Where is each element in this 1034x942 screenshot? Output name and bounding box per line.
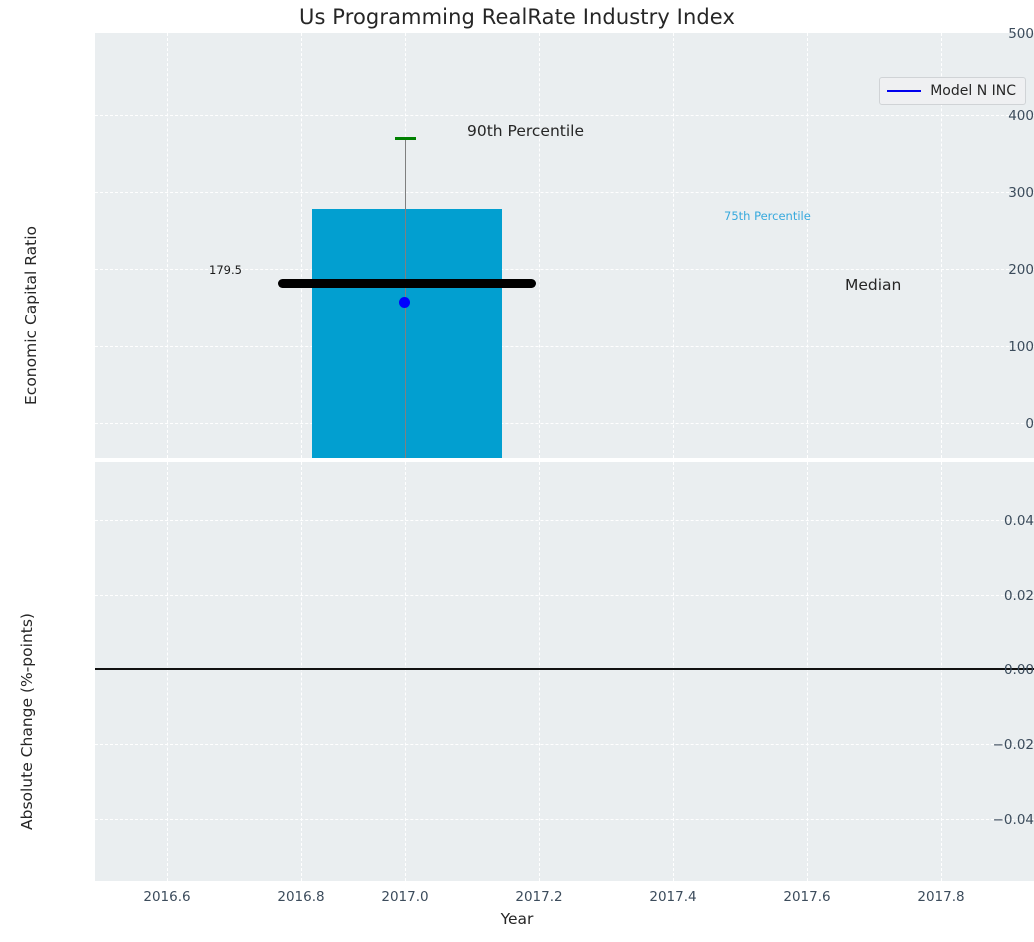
annotation-median: Median [845, 276, 901, 294]
gridline-v-bottom-2016_8 [301, 462, 302, 881]
gridline-h-m0_02 [95, 744, 1034, 745]
gridline-v-bottom-2017_2 [539, 462, 540, 881]
ytick-bottom-0_02: 0.02 [950, 588, 1034, 604]
bottom-panel-plot-area [95, 462, 1034, 881]
ytick-bottom-0_04: 0.04 [950, 513, 1034, 529]
legend-label-model: Model N INC [930, 83, 1016, 99]
gridline-h-0 [95, 423, 1034, 424]
gridline-h-0_04 [95, 520, 1034, 521]
gridline-v-2017_6 [807, 33, 808, 458]
xtick-2017_6: 2017.6 [747, 889, 867, 905]
percentile-bar [312, 209, 502, 458]
gridline-v-2016_8 [301, 33, 302, 458]
xtick-2017_8: 2017.8 [881, 889, 1001, 905]
gridline-h-300 [95, 192, 1034, 193]
gridline-v-bottom-2017_6 [807, 462, 808, 881]
annotation-75th-percentile: 75th Percentile [724, 209, 811, 223]
legend[interactable]: Model N INC [879, 77, 1026, 105]
gridline-v-2017_4 [673, 33, 674, 458]
median-line [278, 279, 536, 288]
gridline-h-400 [95, 115, 1034, 116]
annotation-90th-percentile: 90th Percentile [467, 122, 584, 140]
model-data-point[interactable] [399, 297, 410, 308]
chart-title: Us Programming RealRate Industry Index [0, 5, 1034, 29]
ytick-top-500: 500 [950, 26, 1034, 42]
ytick-top-300: 300 [950, 185, 1034, 201]
ytick-top-100: 100 [950, 339, 1034, 355]
xtick-2017_0: 2017.0 [345, 889, 465, 905]
chart-figure: Us Programming RealRate Industry Index 1… [0, 0, 1034, 942]
xtick-2017_2: 2017.2 [479, 889, 599, 905]
xtick-2017_4: 2017.4 [613, 889, 733, 905]
gridline-h-0_02 [95, 595, 1034, 596]
xtick-2016_6: 2016.6 [107, 889, 227, 905]
gridline-v-2017_2 [539, 33, 540, 458]
gridline-v-bottom-2017_8 [941, 462, 942, 881]
ytick-bottom-m0_02: −0.02 [950, 737, 1034, 753]
zero-reference-line [95, 668, 1034, 670]
xtick-2016_8: 2016.8 [241, 889, 361, 905]
annotation-median-value: 179.5 [209, 263, 242, 277]
ylabel-bottom-panel: Absolute Change (%-points) [18, 613, 36, 830]
gridline-h-m0_04 [95, 819, 1034, 820]
ytick-bottom-m0_04: −0.04 [950, 812, 1034, 828]
ytick-top-200: 200 [950, 262, 1034, 278]
top-panel-plot-area: 179.5 90th Percentile 75th Percentile Me… [95, 33, 1034, 458]
gridline-v-2016_6 [167, 33, 168, 458]
ylabel-top-panel: Economic Capital Ratio [22, 226, 40, 405]
ytick-top-400: 400 [950, 108, 1034, 124]
gridline-v-bottom-2017_0 [405, 462, 406, 881]
gridline-v-bottom-2016_6 [167, 462, 168, 881]
gridline-h-100 [95, 346, 1034, 347]
gridline-v-bottom-2017_4 [673, 462, 674, 881]
xlabel: Year [0, 910, 1034, 928]
ytick-bottom-0_00: 0.00 [950, 662, 1034, 678]
whisker-cap-90th [395, 137, 416, 140]
legend-line-icon [887, 90, 921, 92]
ytick-top-0: 0 [950, 416, 1034, 432]
